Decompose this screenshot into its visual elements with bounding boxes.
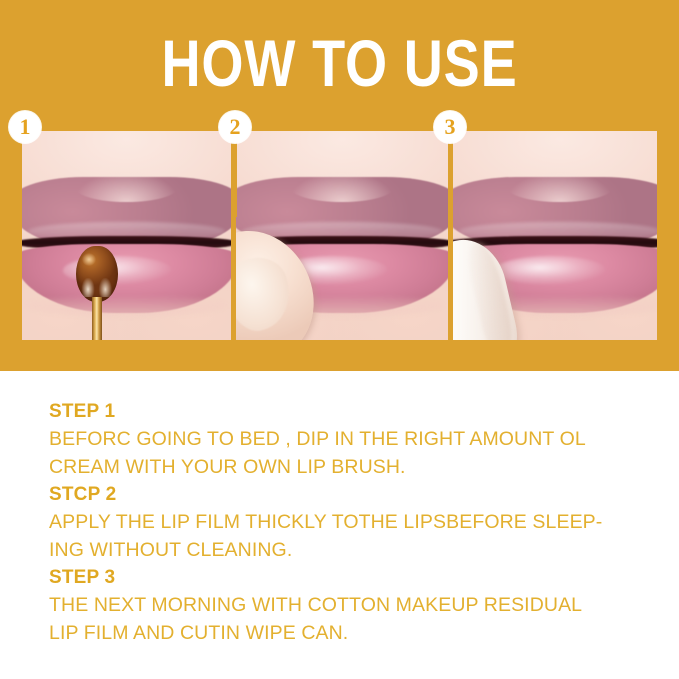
step-photo-3 xyxy=(453,131,657,340)
step-badge-3: 3 xyxy=(434,111,466,143)
step-photo-strip xyxy=(22,131,657,340)
instruction-list: STEP 1 BEFORC GOING TO BED , DIP IN THE … xyxy=(49,398,649,647)
page-title: HOW TO USE xyxy=(61,28,618,98)
step-badge-1: 1 xyxy=(9,111,41,143)
step-photo-2 xyxy=(236,131,448,340)
how-to-use-infographic: HOW TO USE xyxy=(0,0,679,679)
upper-lip-3 xyxy=(453,177,657,244)
applicator-handle xyxy=(92,297,102,340)
applicator-bulb xyxy=(76,246,118,302)
step-3-body: THE NEXT MORNING WITH COTTON MAKEUP RESI… xyxy=(49,591,649,647)
upper-lip-1 xyxy=(22,177,231,244)
step-1-body: BEFORC GOING TO BED , DIP IN THE RIGHT A… xyxy=(49,425,649,481)
step-3-heading: STEP 3 xyxy=(49,564,649,591)
lower-lip-1 xyxy=(22,244,231,313)
step-1-heading: STEP 1 xyxy=(49,398,649,425)
step-photo-1 xyxy=(22,131,231,340)
fingernail xyxy=(236,250,299,337)
step-badge-2: 2 xyxy=(219,111,251,143)
step-2-body: APPLY THE LIP FILM THICKLY TOTHE LIPSBEF… xyxy=(49,508,649,564)
lip-applicator-icon xyxy=(76,246,118,340)
step-2-heading: STCP 2 xyxy=(49,481,649,508)
